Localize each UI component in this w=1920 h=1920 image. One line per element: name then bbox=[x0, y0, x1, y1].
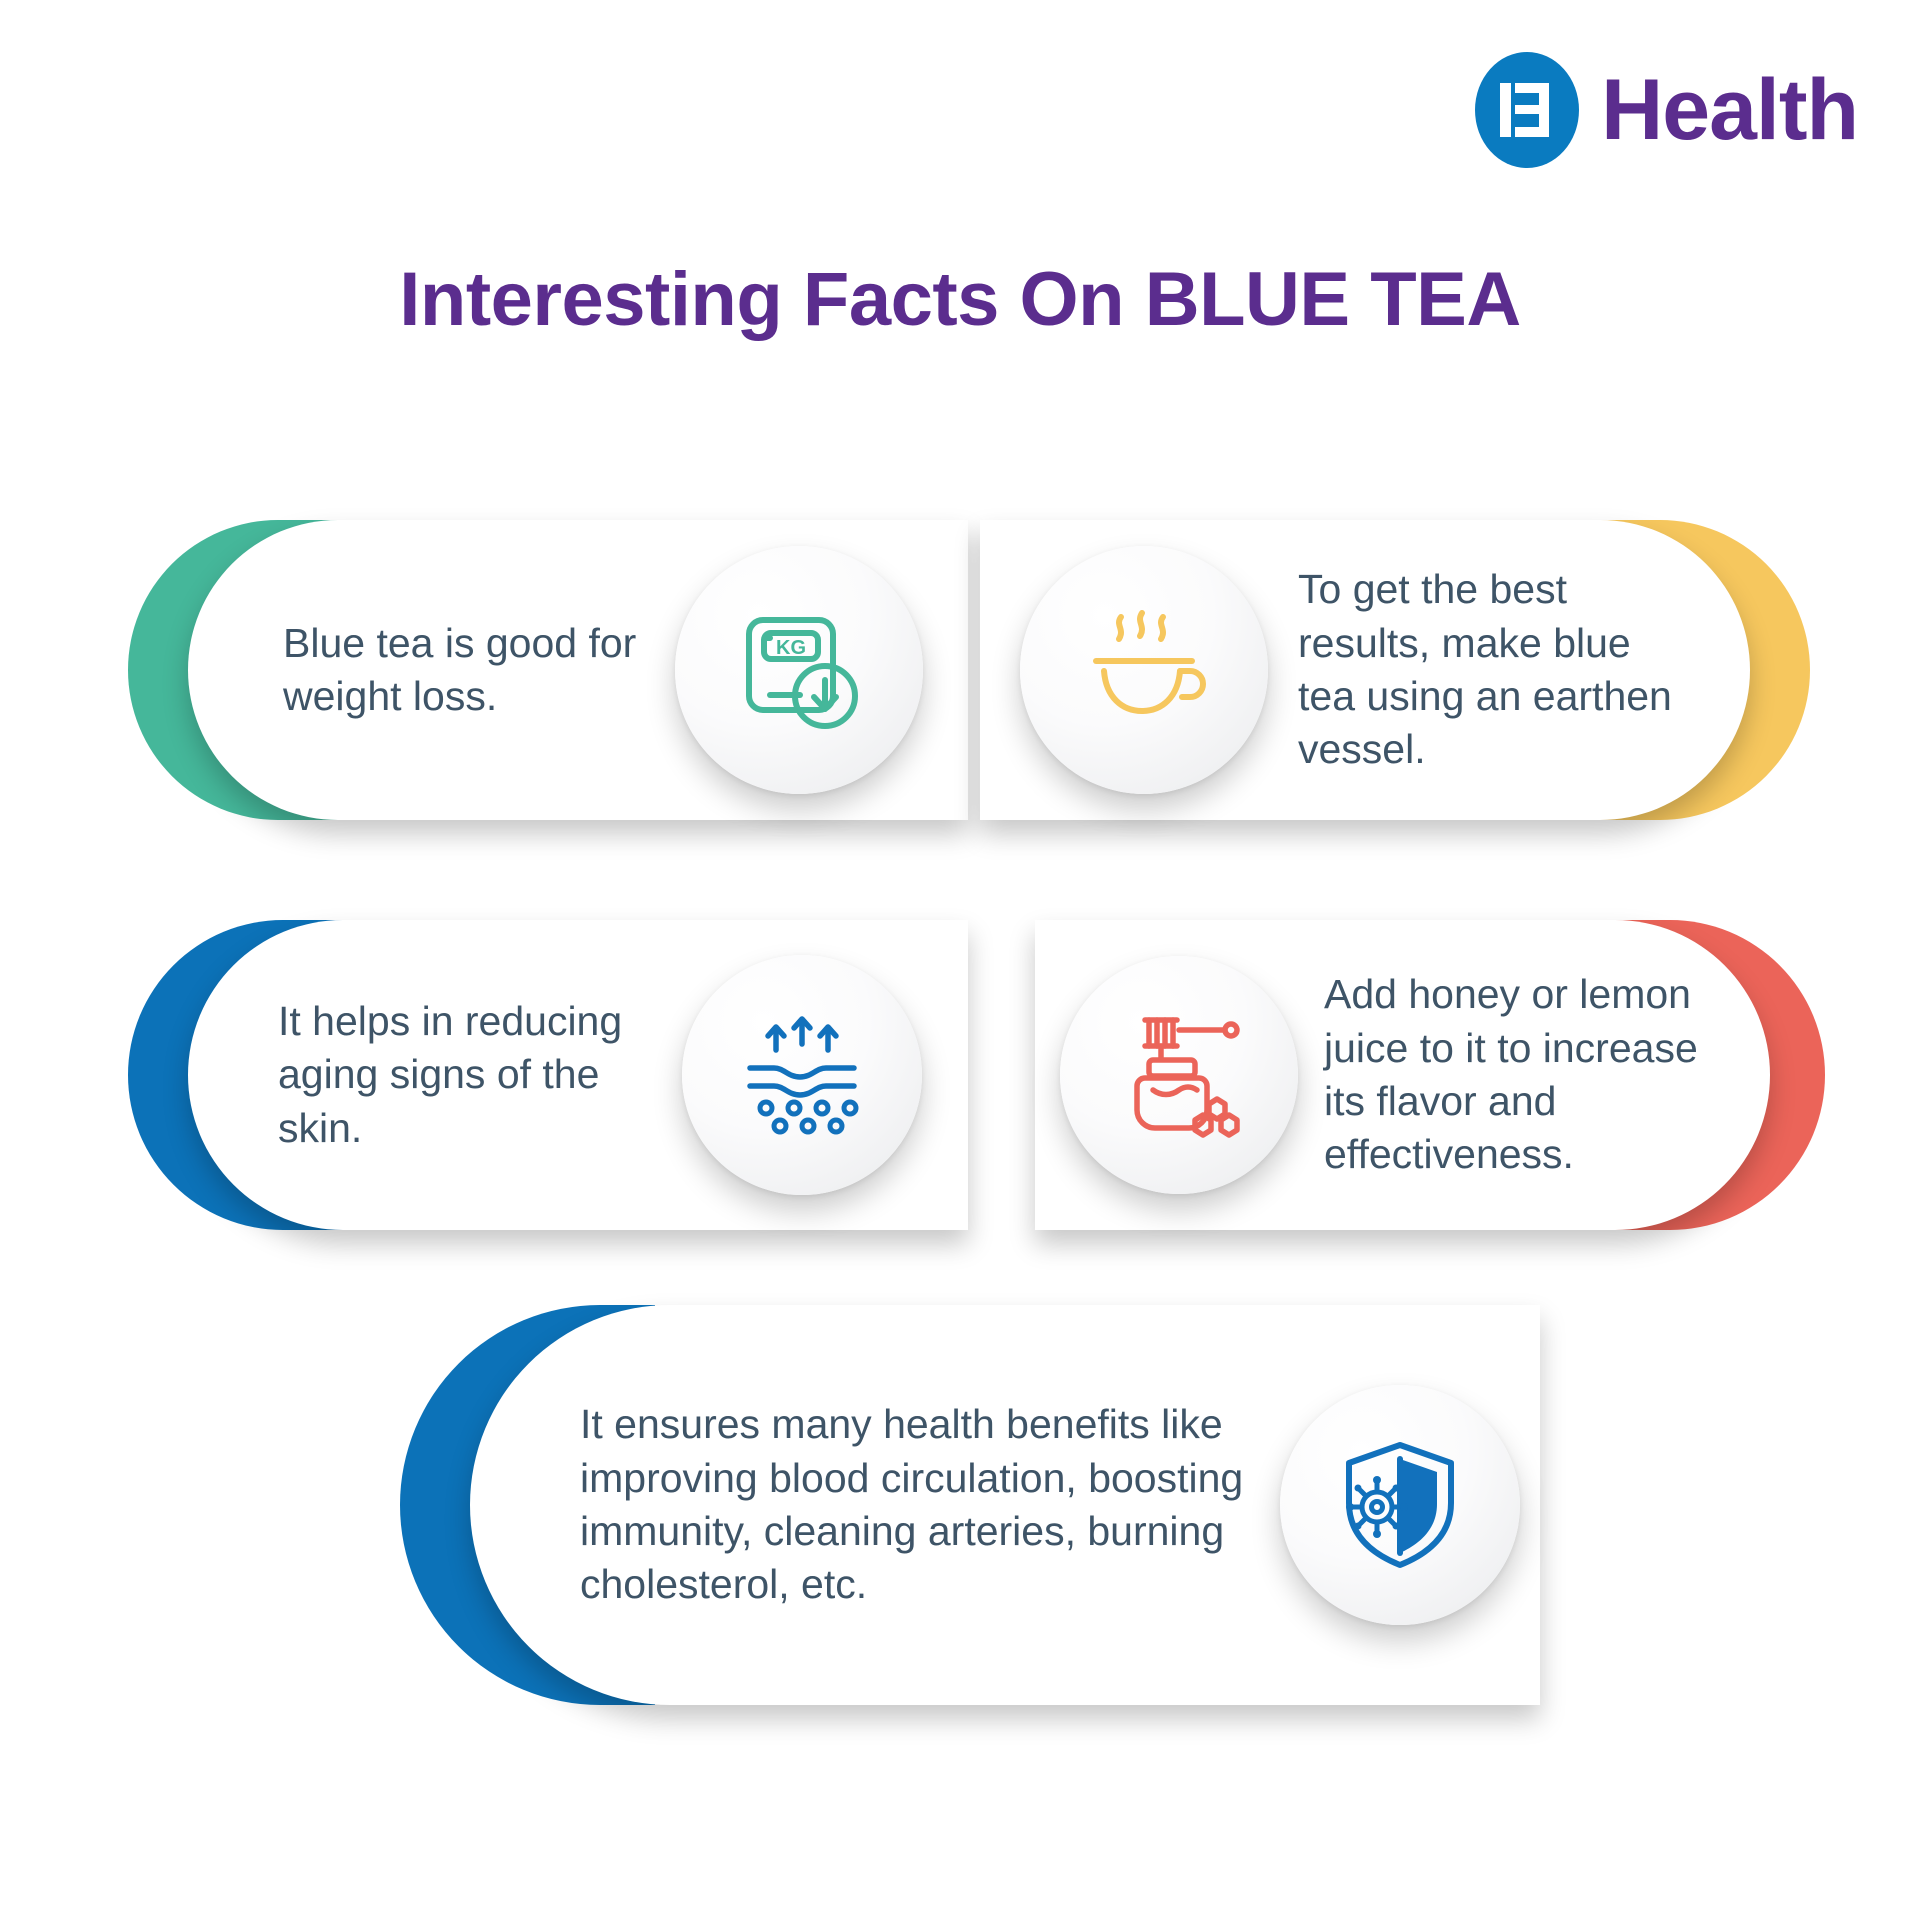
card-text: It helps in reducing aging signs of the … bbox=[278, 995, 678, 1155]
immunity-shield-icon bbox=[1280, 1385, 1520, 1625]
fact-card-earthen-vessel: To get the best results, make blue tea u… bbox=[980, 520, 1810, 820]
skin-layers-icon bbox=[682, 955, 922, 1195]
infographic-page: Health Interesting Facts On BLUE TEA Blu… bbox=[0, 0, 1920, 1920]
bajaj-b-mark-icon bbox=[1475, 52, 1579, 168]
fact-card-health-benefits: It ensures many health benefits like imp… bbox=[400, 1305, 1540, 1705]
honey-jar-icon bbox=[1060, 956, 1298, 1194]
fact-card-honey-lemon: Add honey or lemon juice to it to increa… bbox=[1035, 920, 1825, 1230]
brand-logo: Health bbox=[1475, 52, 1858, 168]
page-title-highlight: BLUE TEA bbox=[1145, 257, 1521, 342]
brand-name: Health bbox=[1601, 67, 1858, 153]
fact-card-anti-aging: It helps in reducing aging signs of the … bbox=[128, 920, 968, 1230]
fact-card-weight-loss: Blue tea is good for weight loss. KG bbox=[128, 520, 968, 820]
tea-cup-icon bbox=[1020, 546, 1268, 794]
card-text: Blue tea is good for weight loss. bbox=[283, 617, 663, 724]
page-title-normal: Interesting Facts On bbox=[399, 257, 1144, 342]
card-text: Add honey or lemon juice to it to increa… bbox=[1324, 968, 1724, 1181]
page-title: Interesting Facts On BLUE TEA bbox=[0, 258, 1920, 342]
svg-text:KG: KG bbox=[776, 637, 806, 659]
weight-scale-icon: KG bbox=[675, 546, 923, 794]
card-text: It ensures many health benefits like imp… bbox=[580, 1398, 1270, 1611]
card-text: To get the best results, make blue tea u… bbox=[1298, 563, 1698, 776]
